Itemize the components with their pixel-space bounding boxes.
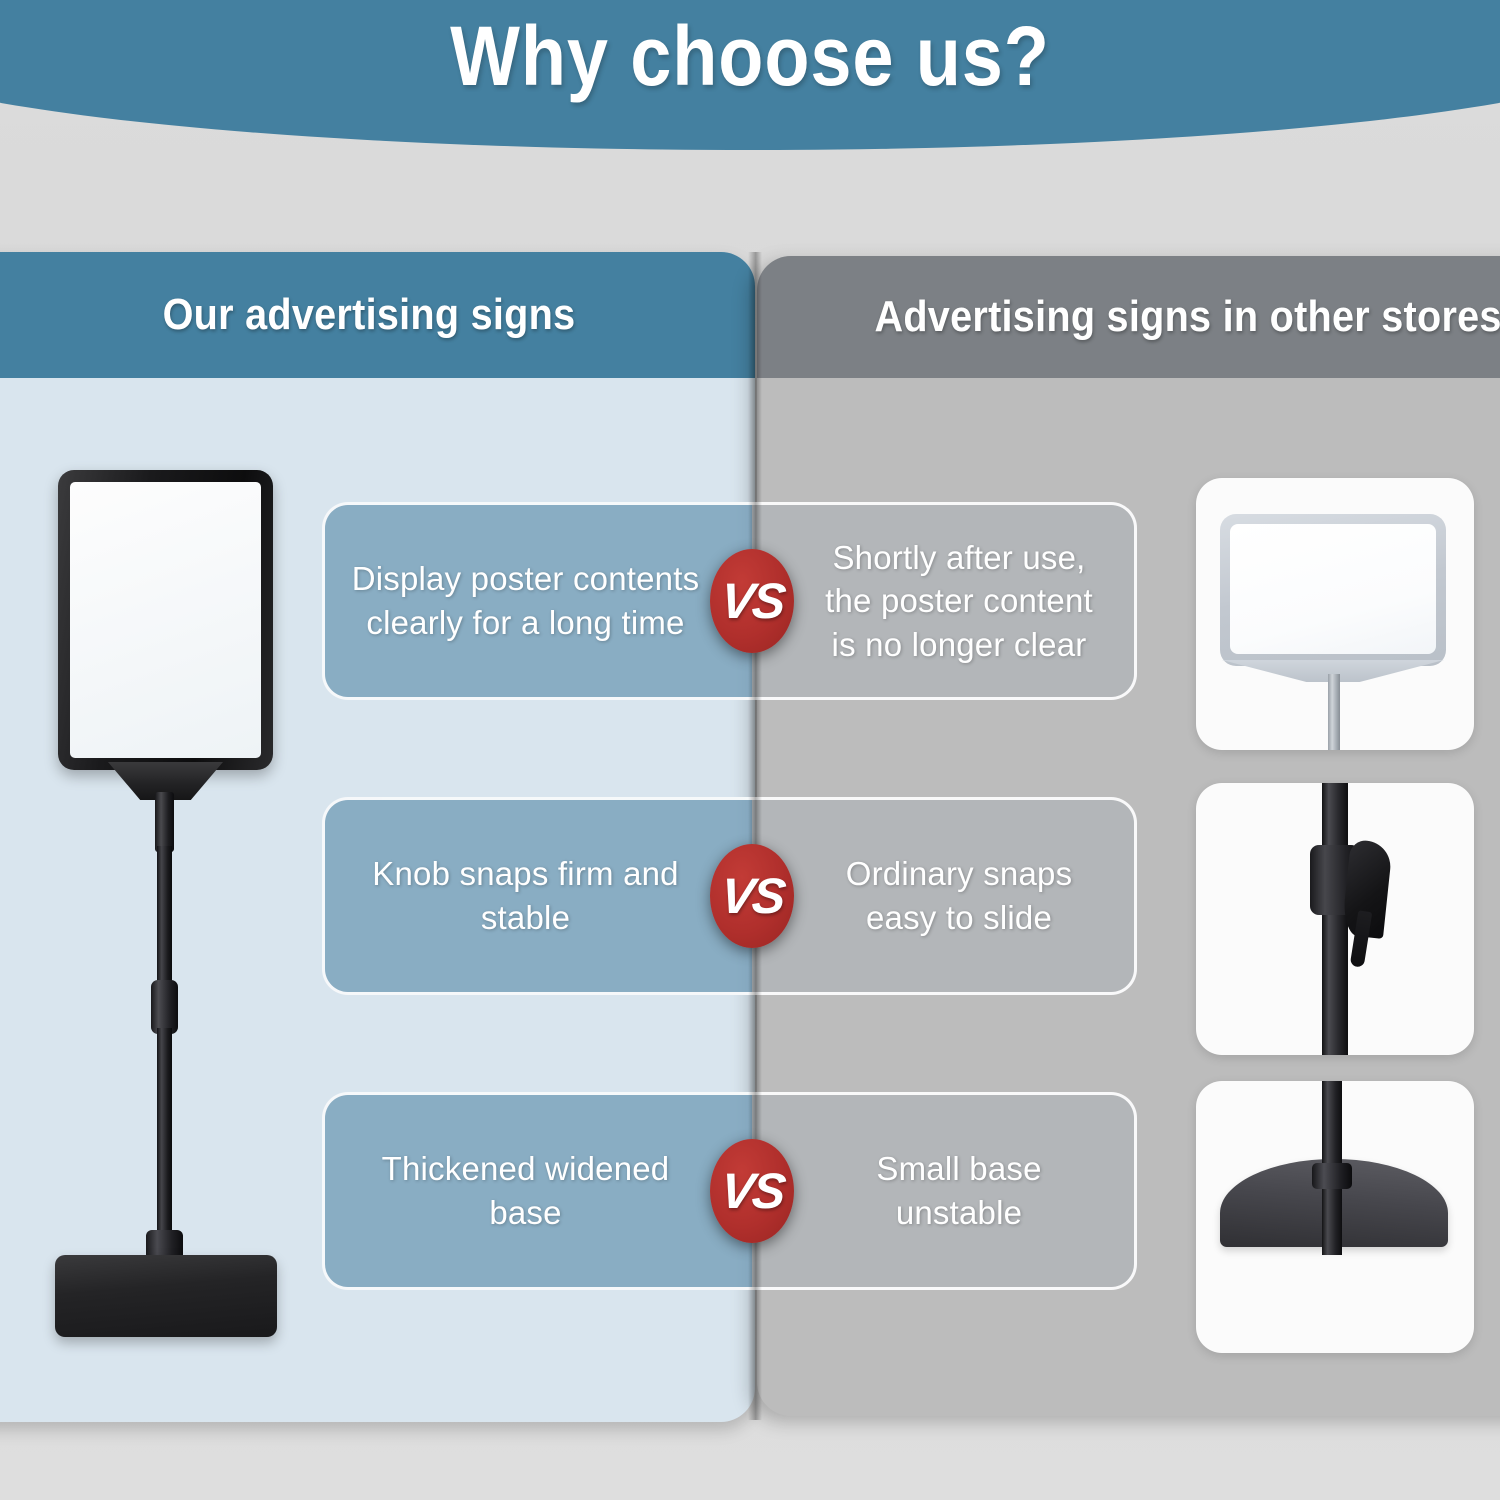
panel-our-header-label: Our advertising signs <box>16 252 755 378</box>
panel-other-header: Advertising signs in other stores <box>757 256 1500 378</box>
vs-badge-1-label: VS <box>718 576 786 626</box>
competitor-photo-card-2 <box>1196 783 1474 1055</box>
pole-middle-section <box>157 846 172 994</box>
top-banner: Why choose us? <box>0 0 1500 150</box>
our-sign-stand-illustration <box>0 440 320 1340</box>
infographic-page: Why choose us? Our advertising signs Adv… <box>0 0 1500 1500</box>
panel-other-header-label: Advertising signs in other stores <box>798 256 1500 378</box>
pole-upper-section <box>155 792 174 852</box>
comparison-row-1-theirs: Shortly after use, the poster content is… <box>752 502 1137 700</box>
poster-frame-outer <box>58 470 273 770</box>
vs-badge-3-label: VS <box>718 1166 786 1216</box>
comparison-row-3-ours: Thickened widened base <box>322 1092 752 1290</box>
widened-base-plate <box>55 1255 277 1337</box>
comparison-row-3-theirs: Small base unstable <box>752 1092 1137 1290</box>
competitor-base-collar <box>1312 1163 1352 1189</box>
vs-badge-1: VS <box>710 549 794 653</box>
comparison-row-2-ours: Knob snaps firm and stable <box>322 797 752 995</box>
vs-badge-2-label: VS <box>718 871 786 921</box>
poster-frame-insert <box>70 482 261 758</box>
comparison-row-1-ours: Display poster contents clearly for a lo… <box>322 502 752 700</box>
page-title: Why choose us? <box>90 14 1410 98</box>
vs-badge-2: VS <box>710 844 794 948</box>
competitor-sign-frame-icon <box>1220 514 1446 666</box>
competitor-pole-icon <box>1322 783 1348 1055</box>
vs-badge-3: VS <box>710 1139 794 1243</box>
panel-our-header: Our advertising signs <box>0 252 755 378</box>
comparison-row-2-theirs: Ordinary snaps easy to slide <box>752 797 1137 995</box>
competitor-photo-card-3 <box>1196 1081 1474 1353</box>
competitor-thin-pole <box>1328 674 1340 750</box>
pole-lower-section <box>157 1028 172 1260</box>
competitor-photo-card-1 <box>1196 478 1474 750</box>
pole-knob-joint <box>151 980 178 1034</box>
competitor-poster-paper <box>1230 524 1436 654</box>
